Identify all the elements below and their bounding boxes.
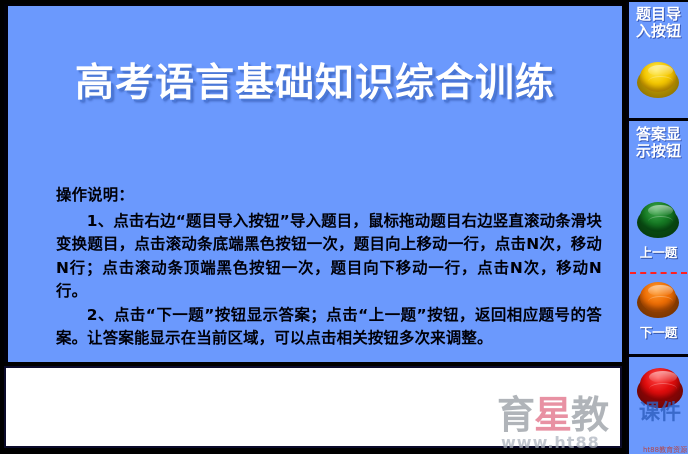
- instructions-block: 操作说明： 1、点击右边“题目导入按钮”导入题目，鼠标拖动题目右边竖直滚动条滑块…: [56, 184, 602, 351]
- button-cap: [640, 368, 680, 401]
- panel-exit: [629, 360, 688, 454]
- previous-question-caption: 上一题: [629, 242, 688, 261]
- page-title: 高考语言基础知识综合训练: [8, 64, 622, 103]
- control-sidebar: 题目导入按钮 答案显示按钮 上一题: [626, 2, 688, 454]
- button-rim: [648, 76, 673, 87]
- button-gloss: [648, 205, 673, 216]
- button-rim: [649, 383, 677, 395]
- button-cap: [640, 62, 676, 92]
- button-rim: [648, 216, 673, 227]
- panel-question-import: 题目导入按钮: [629, 2, 688, 121]
- instructions-heading: 操作说明：: [56, 184, 602, 208]
- question-import-button[interactable]: [637, 62, 679, 98]
- button-gloss: [648, 65, 673, 76]
- button-rim: [648, 296, 673, 307]
- panel-label-question-import: 题目导入按钮: [629, 6, 688, 40]
- dashed-separator: [630, 272, 687, 274]
- next-question-caption: 下一题: [629, 322, 688, 341]
- previous-question-button[interactable]: [637, 202, 679, 238]
- instructions-item-2: 2、点击“下一题”按钮显示答案；点击“上一题”按钮，返回相应题号的答案。让答案能…: [56, 304, 602, 351]
- presentation-window: 高考语言基础知识综合训练 操作说明： 1、点击右边“题目导入按钮”导入题目，鼠标…: [0, 0, 688, 454]
- button-cap: [640, 282, 676, 312]
- slide-content-area: 高考语言基础知识综合训练 操作说明： 1、点击右边“题目导入按钮”导入题目，鼠标…: [4, 4, 622, 362]
- button-gloss: [648, 285, 673, 296]
- button-cap: [640, 202, 676, 232]
- exit-button[interactable]: [637, 368, 683, 408]
- answer-display-area[interactable]: [4, 366, 622, 448]
- button-gloss: [649, 371, 677, 383]
- next-question-button[interactable]: [637, 282, 679, 318]
- panel-label-answer-display: 答案显示按钮: [629, 126, 688, 160]
- panel-answer-display: 答案显示按钮 上一题 下一题: [629, 124, 688, 357]
- instructions-item-1: 1、点击右边“题目导入按钮”导入题目，鼠标拖动题目右边竖直滚动条滑块变换题目，点…: [56, 210, 602, 304]
